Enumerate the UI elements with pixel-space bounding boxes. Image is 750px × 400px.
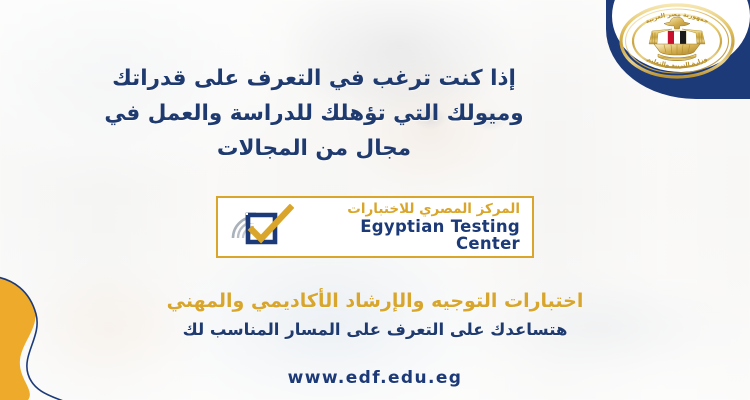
svg-text:وزارة التربية والتعليم: وزارة التربية والتعليم [646,55,709,69]
promo-poster: جمهورية مصر العربية وزارة التربية والتعل… [0,0,750,400]
campaign-gold-heading: اختبارات التوجيه والإرشاد الأكاديمي والم… [0,290,750,312]
headline-line-1: إذا كنت ترغب في التعرف على قدراتك [34,62,594,97]
website-url[interactable]: www.edf.edu.eg [0,368,750,388]
etc-logo-wordmark: المركز المصري للاختبارات Egyptian Testin… [294,202,524,253]
egypt-national-emblem-icon: جمهورية مصر العربية وزارة التربية والتعل… [618,2,736,80]
headline-line-3: مجال من المجالات [34,132,594,167]
etc-english-name: Egyptian Testing Center [294,218,520,253]
campaign-navy-subtext: هتساعدك على التعرف على المسار المناسب لك [0,320,750,339]
headline-line-2: وميولك التي تؤهلك للدراسة والعمل في [34,97,594,132]
etc-checkmark-logo-icon [228,204,294,250]
etc-logo-box: المركز المصري للاختبارات Egyptian Testin… [216,196,534,258]
headline-text: إذا كنت ترغب في التعرف على قدراتك وميولك… [34,62,594,166]
etc-arabic-name: المركز المصري للاختبارات [294,202,520,216]
